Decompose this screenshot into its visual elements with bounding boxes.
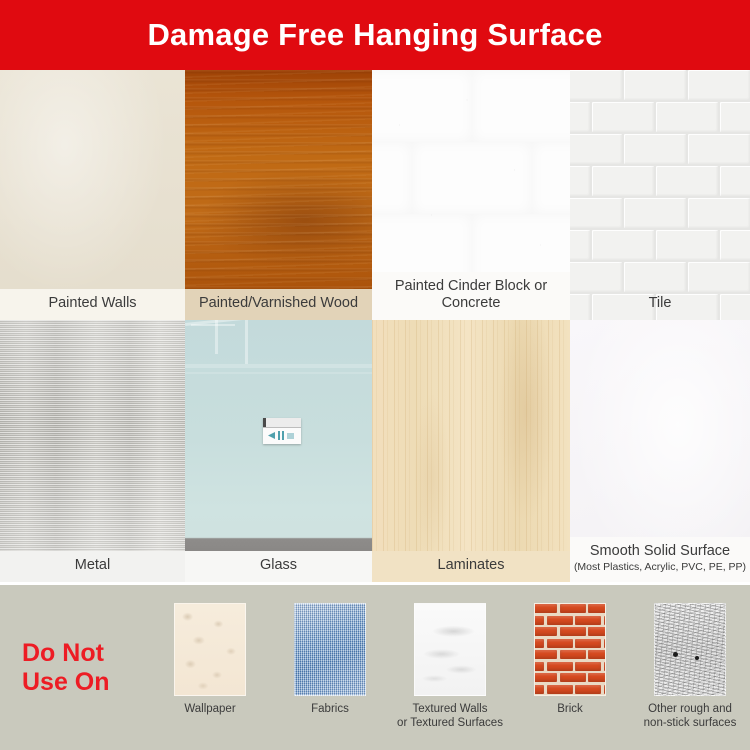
do-not-use-item-wallpaper: Wallpaper [150, 603, 270, 717]
brick-unit [588, 650, 606, 659]
header-banner: Damage Free Hanging Surface [0, 0, 750, 70]
do-not-use-item-other-rough: Other rough and non-stick surfaces [630, 603, 750, 730]
surface-label-smooth-solid-surface: Smooth Solid Surface (Most Plastics, Acr… [570, 537, 750, 582]
sign-glyph [278, 431, 280, 440]
do-not-use-label-other-rough: Other rough and non-stick surfaces [644, 703, 737, 730]
subway-tile-unit [656, 166, 718, 196]
brick-unit [534, 604, 557, 613]
subway-tile-unit [570, 102, 590, 132]
cinder-block-unit [372, 70, 473, 143]
surface-label-smooth-sub: (Most Plastics, Acrylic, PVC, PE, PP) [572, 561, 748, 574]
brushed-metal-texture [0, 320, 185, 582]
surface-cell-painted-varnished-wood: Painted/Varnished Wood [185, 70, 372, 320]
varnished-wood-texture [185, 70, 372, 320]
label-line2: or Textured Surfaces [397, 717, 503, 731]
surface-label-painted-cinder-block: Painted Cinder Block or Concrete [372, 272, 570, 320]
subway-tile-unit [592, 166, 654, 196]
brick-unit [560, 627, 586, 636]
do-not-use-label-textured-walls: Textured Walls or Textured Surfaces [397, 703, 503, 730]
do-not-use-label-fabrics: Fabrics [311, 703, 349, 717]
brick-unit [534, 650, 557, 659]
subway-tile-unit [688, 198, 750, 228]
cinder-block-unit [372, 142, 413, 215]
brick-unit [575, 639, 601, 648]
surface-label-metal: Metal [0, 551, 185, 582]
surface-row-1: Painted Walls Painted/Varnished Wood Pai… [0, 70, 750, 320]
label-line1: Other rough and [644, 703, 737, 717]
brick-unit [588, 673, 606, 682]
brick-unit [534, 639, 544, 648]
do-not-use-label-brick: Brick [557, 703, 583, 717]
cinder-block-unit [532, 142, 570, 215]
brick-texture [534, 603, 606, 696]
glass-reflection-streak [215, 320, 218, 354]
brick-unit [588, 604, 606, 613]
subway-tile-unit [656, 102, 718, 132]
surface-cell-glass: Glass [185, 320, 372, 582]
brick-unit [604, 639, 607, 648]
subway-tile-unit [592, 230, 654, 260]
subway-tile-unit [570, 230, 590, 260]
do-not-use-item-brick: Brick [510, 603, 630, 717]
do-not-use-item-fabrics: Fabrics [270, 603, 390, 717]
surface-cell-laminates: Laminates [372, 320, 570, 582]
label-line2: non-stick surfaces [644, 717, 737, 731]
subway-tile-texture [570, 70, 750, 320]
damage-free-hanging-surface-infographic: Damage Free Hanging Surface Painted Wall… [0, 0, 750, 750]
wall-sign [263, 418, 301, 444]
glass-panel-texture [185, 320, 372, 582]
surface-row-2: Metal Glass Lamina [0, 320, 750, 582]
subway-tile-unit [592, 102, 654, 132]
wall-sign-bracket [263, 418, 301, 428]
wallpaper-texture [174, 603, 246, 696]
do-not-use-heading: Do Not Use On [0, 585, 150, 750]
sign-glyph [287, 433, 294, 439]
subway-tile-unit [624, 134, 686, 164]
brick-unit [534, 627, 557, 636]
do-not-use-item-textured-walls: Textured Walls or Textured Surfaces [390, 603, 510, 730]
brick-unit [604, 616, 607, 625]
brick-unit [547, 685, 573, 694]
do-not-use-item-list: Wallpaper Fabrics Textured Walls or Text… [150, 585, 750, 750]
subway-tile-unit [688, 262, 750, 292]
brick-unit [604, 685, 607, 694]
subway-tile-unit [624, 198, 686, 228]
subway-tile-unit [688, 70, 750, 100]
glass-reflection-streak [185, 364, 372, 368]
label-line1: Fabrics [311, 703, 349, 717]
surface-label-laminates: Laminates [372, 551, 570, 582]
page-title: Damage Free Hanging Surface [147, 17, 602, 53]
surface-label-painted-varnished-wood: Painted/Varnished Wood [185, 289, 372, 320]
painted-walls-texture [0, 70, 185, 320]
surface-label-glass: Glass [185, 551, 372, 582]
cinder-block-unit [412, 142, 533, 215]
surface-cell-tile: Tile [570, 70, 750, 320]
subway-tile-unit [688, 134, 750, 164]
brick-unit [575, 685, 601, 694]
brick-unit [560, 673, 586, 682]
sign-glyph [282, 431, 284, 440]
do-not-use-section: Do Not Use On Wallpaper Fabrics Textured… [0, 582, 750, 750]
surface-cell-painted-walls: Painted Walls [0, 70, 185, 320]
brick-unit [534, 616, 544, 625]
subway-tile-unit [624, 262, 686, 292]
subway-tile-unit [570, 166, 590, 196]
surface-cell-smooth-solid-surface: Smooth Solid Surface (Most Plastics, Acr… [570, 320, 750, 582]
surface-label-smooth-main: Smooth Solid Surface [590, 543, 730, 559]
glass-reflection-streak [185, 372, 372, 374]
subway-tile-unit [720, 166, 750, 196]
subway-tile-unit [570, 70, 622, 100]
brick-unit [547, 639, 573, 648]
brick-unit [534, 685, 544, 694]
glass-reflection-streak [245, 320, 248, 364]
label-line1: Wallpaper [184, 703, 235, 717]
surface-label-painted-walls: Painted Walls [0, 289, 185, 320]
label-line1: Brick [557, 703, 583, 717]
surface-label-tile: Tile [570, 289, 750, 320]
do-not-use-heading-line1: Do Not [22, 639, 150, 668]
subway-tile-unit [656, 230, 718, 260]
subway-tile-unit [720, 102, 750, 132]
do-not-use-heading-line2: Use On [22, 668, 150, 697]
brick-unit [534, 662, 544, 671]
brick-unit [575, 616, 601, 625]
surface-hole [673, 652, 678, 657]
brick-unit [560, 604, 586, 613]
left-arrow-icon [268, 432, 275, 439]
brick-unit [575, 662, 601, 671]
brick-unit [547, 616, 573, 625]
subway-tile-unit [570, 134, 622, 164]
cinder-block-unit [472, 70, 570, 143]
subway-tile-unit [570, 198, 622, 228]
subway-tile-unit [570, 262, 622, 292]
rough-stone-texture [654, 603, 726, 696]
laminate-texture [372, 320, 570, 582]
brick-unit [560, 650, 586, 659]
brick-unit [534, 673, 557, 682]
do-not-use-label-wallpaper: Wallpaper [184, 703, 235, 717]
subway-tile-unit [624, 70, 686, 100]
surface-cell-painted-cinder-block: Painted Cinder Block or Concrete [372, 70, 570, 320]
subway-tile-unit [720, 230, 750, 260]
label-line1: Textured Walls [397, 703, 503, 717]
denim-fabric-texture [294, 603, 366, 696]
surface-cell-metal: Metal [0, 320, 185, 582]
textured-plaster-texture [414, 603, 486, 696]
brick-unit [588, 627, 606, 636]
surface-hole [695, 656, 699, 660]
brick-unit [547, 662, 573, 671]
brick-unit [604, 662, 607, 671]
glass-reflection-streak [191, 324, 235, 326]
